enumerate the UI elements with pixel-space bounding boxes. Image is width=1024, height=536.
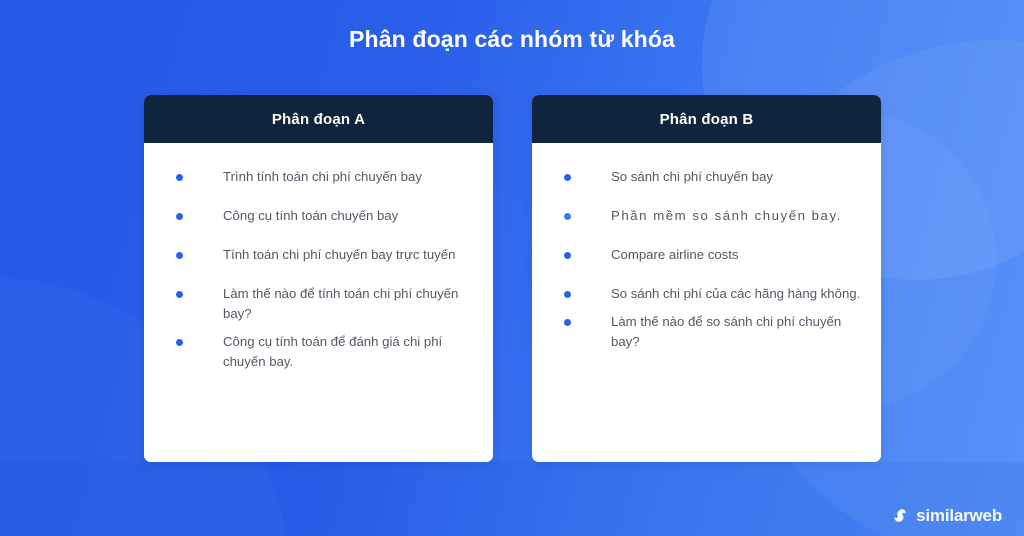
keyword-list-a: Trình tính toán chi phí chuyến bay Công …	[162, 167, 475, 372]
segment-card-a-body: Trình tính toán chi phí chuyến bay Công …	[144, 143, 493, 462]
similarweb-swirl-icon	[892, 507, 910, 525]
list-item: Làm thế nào để so sánh chi phí chuyến ba…	[550, 312, 863, 352]
list-item-label: Công cụ tính toán chuyến bay	[223, 208, 398, 223]
bullet-dot-icon	[564, 319, 571, 326]
bullet-dot-icon	[176, 291, 183, 298]
bullet-dot-icon	[564, 213, 571, 220]
list-item-label: So sánh chi phí chuyến bay	[611, 169, 773, 184]
list-item-label: Tính toán chi phí chuyến bay trực tuyến	[223, 247, 455, 262]
list-item-label: Làm thế nào để tính toán chi phí chuyến …	[223, 286, 458, 321]
segment-card-b: Phân đoạn B So sánh chi phí chuyến bay P…	[532, 95, 881, 462]
list-item-label: Công cụ tính toán để đánh giá chi phí ch…	[223, 334, 442, 369]
bullet-dot-icon	[564, 252, 571, 259]
list-item-label: Trình tính toán chi phí chuyến bay	[223, 169, 422, 184]
list-item: So sánh chi phí chuyến bay	[550, 167, 863, 187]
list-item: Tính toán chi phí chuyến bay trực tuyến	[162, 245, 475, 265]
segment-card-b-header: Phân đoạn B	[532, 95, 881, 143]
keyword-list-b: So sánh chi phí chuyến bay Phần mềm so s…	[550, 167, 863, 352]
list-item-label: Phần mềm so sánh chuyến bay.	[611, 208, 842, 223]
list-item: Compare airline costs	[550, 245, 863, 265]
bullet-dot-icon	[176, 339, 183, 346]
segment-card-a-header: Phân đoạn A	[144, 95, 493, 143]
bullet-dot-icon	[176, 252, 183, 259]
list-item: Công cụ tính toán để đánh giá chi phí ch…	[162, 332, 475, 372]
page-title: Phân đoạn các nhóm từ khóa	[0, 26, 1024, 54]
segment-card-b-body: So sánh chi phí chuyến bay Phần mềm so s…	[532, 143, 881, 462]
segment-cards-container: Phân đoạn A Trình tính toán chi phí chuy…	[144, 95, 881, 462]
list-item-label: Làm thế nào để so sánh chi phí chuyến ba…	[611, 314, 841, 349]
segment-card-a: Phân đoạn A Trình tính toán chi phí chuy…	[144, 95, 493, 462]
list-item: Trình tính toán chi phí chuyến bay	[162, 167, 475, 187]
similarweb-logo: similarweb	[892, 506, 1002, 526]
bullet-dot-icon	[564, 291, 571, 298]
list-item: Công cụ tính toán chuyến bay	[162, 206, 475, 226]
decorative-bottom-band	[0, 462, 1024, 536]
list-item: Làm thế nào để tính toán chi phí chuyến …	[162, 284, 475, 324]
list-item: Phần mềm so sánh chuyến bay.	[550, 206, 863, 226]
bullet-dot-icon	[564, 174, 571, 181]
slide-canvas: Phân đoạn các nhóm từ khóa Phân đoạn A T…	[0, 0, 1024, 536]
bullet-dot-icon	[176, 213, 183, 220]
similarweb-logo-text: similarweb	[916, 506, 1002, 526]
list-item: So sánh chi phí của các hãng hàng không.	[550, 284, 863, 304]
list-item-label: Compare airline costs	[611, 247, 739, 262]
list-item-label: So sánh chi phí của các hãng hàng không.	[611, 286, 860, 301]
bullet-dot-icon	[176, 174, 183, 181]
